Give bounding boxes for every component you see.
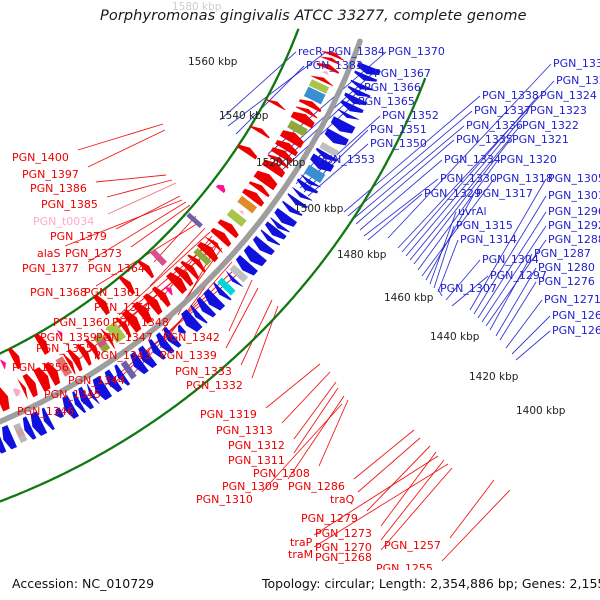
gene-label-pgn-1257[interactable]: PGN_1257 — [384, 540, 441, 551]
gene-label-pgn-1335[interactable]: PGN_1335 — [456, 134, 513, 145]
gene-label-pgn-1273[interactable]: PGN_1273 — [315, 528, 372, 539]
gene-label-pgn-1367[interactable]: PGN_1367 — [374, 68, 431, 79]
gene-label-pgn-1320[interactable]: PGN_1320 — [500, 154, 557, 165]
gene-label-uvral[interactable]: uvrAl — [458, 206, 487, 217]
gene-label-pgn-1368[interactable]: PGN_1368 — [30, 287, 87, 298]
genome-map-viewer[interactable]: PGN_1400PGN_1397PGN_1386PGN_1385PGN_t003… — [0, 0, 600, 600]
gene-label-traq[interactable]: traQ — [330, 494, 354, 505]
gene-label-pgn-1337[interactable]: PGN_1337 — [474, 105, 531, 116]
gene-label-pgn-1366[interactable]: PGN_1366 — [364, 82, 421, 93]
gene-label-pgn-1383[interactable]: PGN_1383 — [306, 60, 363, 71]
gene-label-pgn-1310[interactable]: PGN_1310 — [196, 494, 253, 505]
gene-label-pgn-1323[interactable]: PGN_1323 — [530, 105, 587, 116]
ruler-tick-1420: 1420 kbp — [469, 372, 518, 383]
gene-label-pgn-1330[interactable]: PGN_1330 — [440, 173, 497, 184]
gene-label-pgn-1265[interactable]: PGN_1265 — [552, 310, 600, 321]
status-bar: Accession: NC_010729 Topology: circular;… — [0, 570, 600, 600]
gene-label-pgn-1307[interactable]: PGN_1307 — [440, 283, 497, 294]
gene-label-pgn-1397[interactable]: PGN_1397 — [22, 169, 79, 180]
ruler-tick-1560: 1560 kbp — [188, 57, 237, 68]
gene-label-pgn-1351[interactable]: PGN_1351 — [370, 124, 427, 135]
gene-label-pgn-1339[interactable]: PGN_1339 — [160, 350, 217, 361]
gene-label-pgn-1276[interactable]: PGN_1276 — [538, 276, 595, 287]
ruler-tick-1460: 1460 kbp — [384, 293, 433, 304]
gene-label-pgn-1347[interactable]: PGN_1347 — [96, 332, 153, 343]
gene-label-pgn-1355[interactable]: PGN_1355 — [36, 343, 93, 354]
gene-label-pgn-1385[interactable]: PGN_1385 — [41, 199, 98, 210]
gene-label-pgn-1333[interactable]: PGN_1333 — [175, 366, 232, 377]
ruler-tick-1500: 1500 kbp — [294, 204, 343, 215]
gene-label-pgn-1321[interactable]: PGN_1321 — [512, 134, 569, 145]
gene-label-alas[interactable]: alaS — [37, 248, 61, 259]
gene-label-pgn-1318[interactable]: PGN_1318 — [496, 173, 553, 184]
gene-label-pgn-1309[interactable]: PGN_1309 — [222, 481, 279, 492]
gene-label-pgn-1314[interactable]: PGN_1314 — [460, 234, 517, 245]
ruler-tick-1540: 1540 kbp — [219, 111, 268, 122]
topology-label: Topology: circular; Length: 2,354,886 bp… — [262, 576, 600, 591]
ruler-tick-1440: 1440 kbp — [430, 332, 479, 343]
gene-label-pgn-1324[interactable]: PGN_1324 — [540, 90, 597, 101]
gene-label-pgn-1263[interactable]: PGN_1263 — [552, 325, 600, 336]
gene-label-pgn-1301[interactable]: PGN_1301 — [548, 190, 600, 201]
gene-label-pgn-1271[interactable]: PGN_1271 — [544, 294, 600, 305]
gene-label-pgn-1352[interactable]: PGN_1352 — [382, 110, 439, 121]
gene-label-pgn-1386[interactable]: PGN_1386 — [30, 183, 87, 194]
gene-label-pgn-1353[interactable]: PGN_1353 — [318, 154, 375, 165]
gene-label-pgn-1350[interactable]: PGN_1350 — [370, 138, 427, 149]
gene-label-pgn-1331[interactable]: PGN_1331 — [553, 58, 600, 69]
gene-label-pgn-1370[interactable]: PGN_1370 — [388, 46, 445, 57]
gene-label-pgn-1317[interactable]: PGN_1317 — [476, 188, 533, 199]
gene-label-pgn-1338[interactable]: PGN_1338 — [482, 90, 539, 101]
page-title: Porphyromonas gingivalis ATCC 33277, com… — [100, 8, 520, 24]
gene-label-pgn-1315[interactable]: PGN_1315 — [456, 220, 513, 231]
gene-label-pgn-1322[interactable]: PGN_1322 — [522, 120, 579, 131]
gene-label-pgn-1319[interactable]: PGN_1319 — [200, 409, 257, 420]
gene-label-pgn-1287[interactable]: PGN_1287 — [534, 248, 591, 259]
gene-label-pgn-1329[interactable]: PGN_1329 — [424, 188, 481, 199]
gene-label-pgn-1304[interactable]: PGN_1304 — [482, 254, 539, 265]
gene-label-tram[interactable]: traM — [288, 549, 313, 560]
gene-label-pgn-1305[interactable]: PGN_1305 — [548, 173, 600, 184]
gene-label-pgn-1365[interactable]: PGN_1365 — [358, 96, 415, 107]
gene-label-pgn-1308[interactable]: PGN_1308 — [253, 468, 310, 479]
gene-label-pgn-1364[interactable]: PGN_1364 — [88, 263, 145, 274]
gene-label-pgn-1336[interactable]: PGN_1336 — [466, 120, 523, 131]
gene-label-pgn-1296[interactable]: PGN_1296 — [548, 206, 600, 217]
gene-label-pgn-t0034[interactable]: PGN_t0034 — [33, 216, 94, 227]
gene-label-pgn-1354[interactable]: PGN_1354 — [94, 302, 151, 313]
gene-label-pgn-1384[interactable]: PGN_1384 — [328, 46, 385, 57]
gene-label-pgn-1286[interactable]: PGN_1286 — [288, 481, 345, 492]
gene-label-pgn-1342[interactable]: PGN_1342 — [163, 332, 220, 343]
gene-label-pgn-1346[interactable]: PGN_1346 — [17, 406, 74, 417]
gene-label-pgn-1292[interactable]: PGN_1292 — [548, 220, 600, 231]
gene-label-pgn-1361[interactable]: PGN_1361 — [84, 287, 141, 298]
gene-label-trap[interactable]: traP — [290, 537, 312, 548]
ruler-tick-1400: 1400 kbp — [516, 406, 565, 417]
gene-label-pgn-1268[interactable]: PGN_1268 — [315, 552, 372, 563]
gene-label-pgn-1345[interactable]: PGN_1345 — [44, 389, 101, 400]
gene-label-pgn-1311[interactable]: PGN_1311 — [228, 455, 285, 466]
gene-label-pgn-1400[interactable]: PGN_1400 — [12, 152, 69, 163]
gene-label-pgn-1325[interactable]: PGN_1325 — [556, 75, 600, 86]
gene-label-pgn-1373[interactable]: PGN_1373 — [65, 248, 122, 259]
gene-label-pgn-1344[interactable]: PGN_1344 — [68, 375, 125, 386]
accession-label: Accession: NC_010729 — [12, 576, 154, 591]
gene-label-pgn-1279[interactable]: PGN_1279 — [301, 513, 358, 524]
gene-label-pgn-1288[interactable]: PGN_1288 — [548, 234, 600, 245]
gene-label-pgn-1360[interactable]: PGN_1360 — [53, 317, 110, 328]
gene-label-recr[interactable]: recR — [298, 46, 323, 57]
ruler-tick-1480: 1480 kbp — [337, 250, 386, 261]
ruler-tick-1520: 1520 kbp — [256, 158, 305, 169]
gene-label-pgn-1356[interactable]: PGN_1356 — [12, 362, 69, 373]
gene-label-pgn-1334[interactable]: PGN_1334 — [444, 154, 501, 165]
gene-label-pgn-1343[interactable]: PGN_1343 — [94, 350, 151, 361]
gene-label-pgn-1379[interactable]: PGN_1379 — [50, 231, 107, 242]
gene-label-pgn-1312[interactable]: PGN_1312 — [228, 440, 285, 451]
gene-label-pgn-1332[interactable]: PGN_1332 — [186, 380, 243, 391]
gene-label-pgn-1377[interactable]: PGN_1377 — [22, 263, 79, 274]
gene-label-pgn-1313[interactable]: PGN_1313 — [216, 425, 273, 436]
gene-label-pgn-1348[interactable]: PGN_1348 — [112, 317, 169, 328]
